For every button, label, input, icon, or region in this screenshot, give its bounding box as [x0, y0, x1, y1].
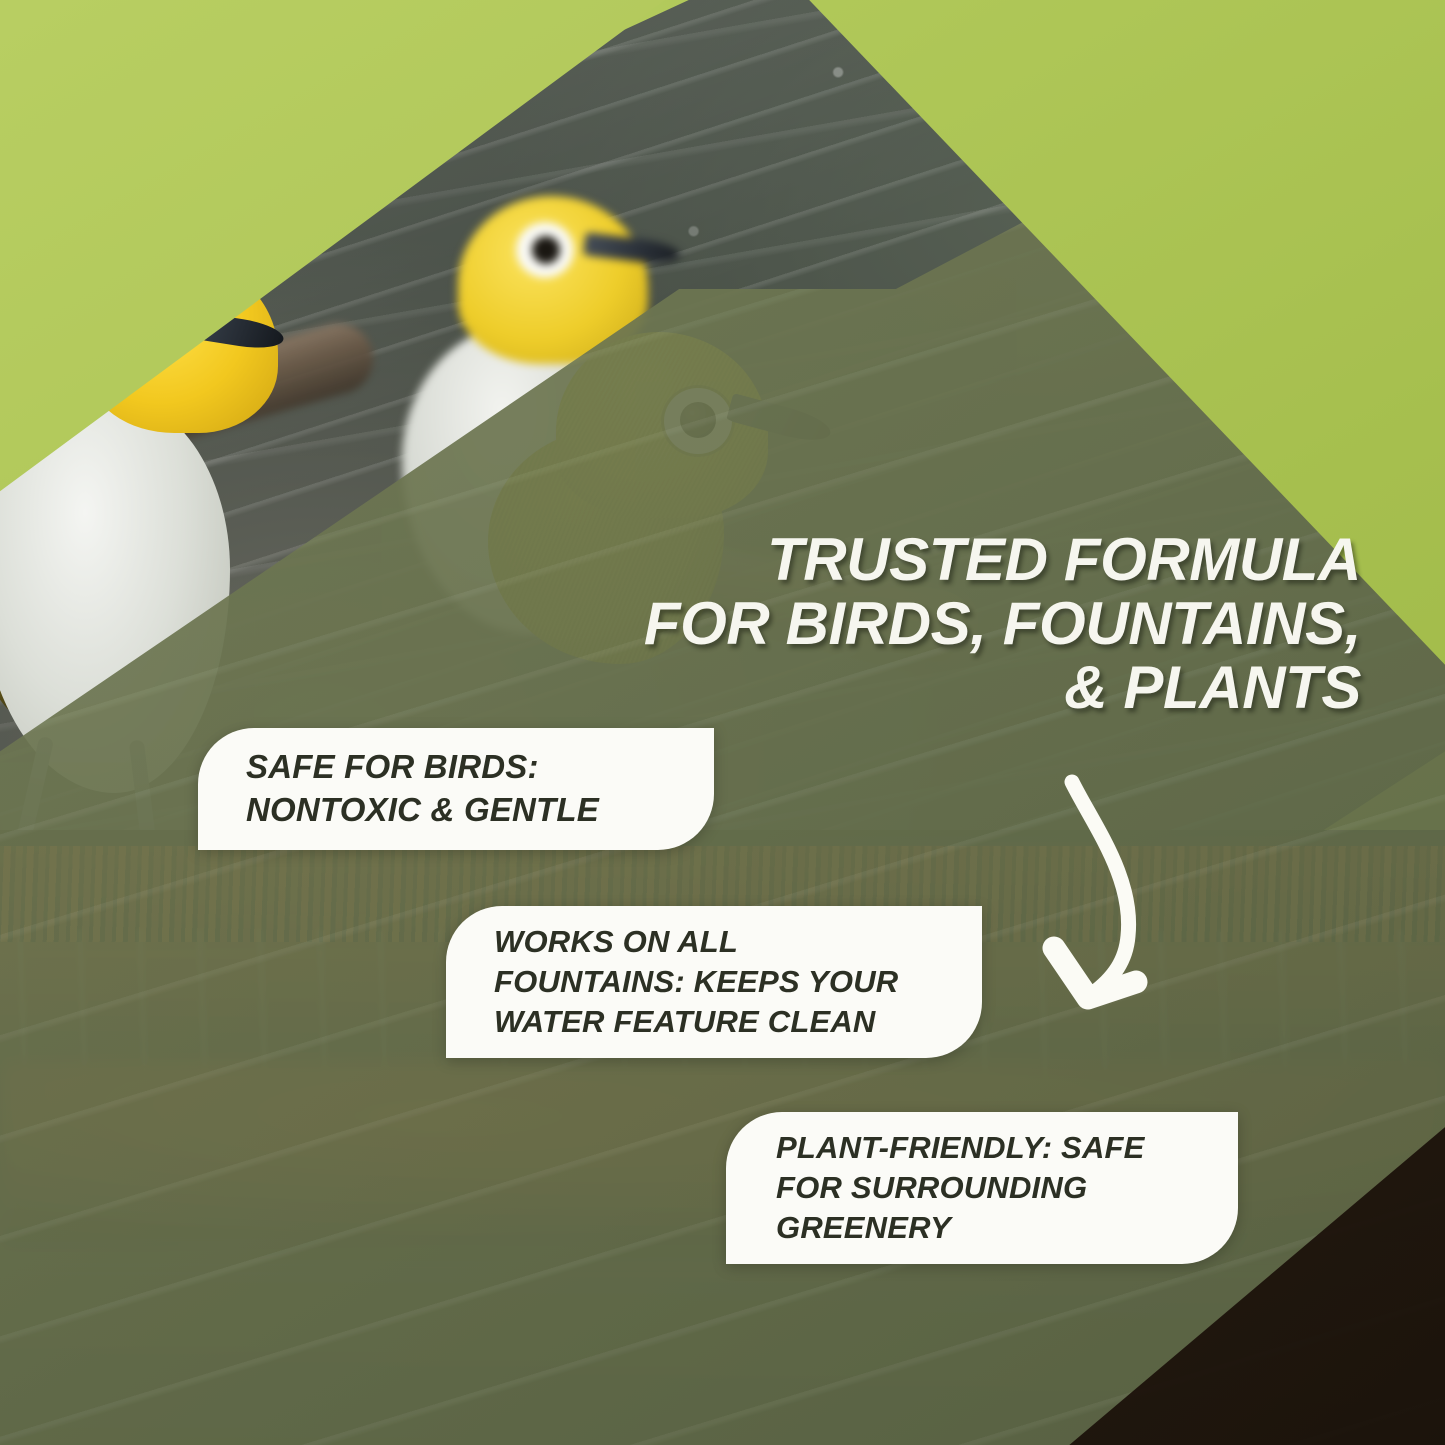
- callout-line: FOR SURROUNDING: [776, 1168, 1238, 1208]
- callout-safe-for-birds: SAFE FOR BIRDS: NONTOXIC & GENTLE: [198, 728, 714, 850]
- bird-pupil: [532, 236, 560, 264]
- headline-line-3: & PLANTS: [641, 656, 1361, 720]
- headline-line-1: TRUSTED FORMULA: [641, 528, 1361, 592]
- callout-line: WORKS ON ALL: [494, 922, 982, 962]
- headline: TRUSTED FORMULA FOR BIRDS, FOUNTAINS, & …: [641, 528, 1361, 721]
- callout-works-on-all-fountains: WORKS ON ALL FOUNTAINS: KEEPS YOUR WATER…: [446, 906, 982, 1058]
- infographic-poster: TRUSTED FORMULA FOR BIRDS, FOUNTAINS, & …: [0, 0, 1445, 1445]
- headline-line-2: FOR BIRDS, FOUNTAINS,: [641, 592, 1361, 656]
- callout-line: SAFE FOR BIRDS:: [246, 746, 714, 789]
- callout-line: FOUNTAINS: KEEPS YOUR: [494, 962, 982, 1002]
- callout-line: NONTOXIC & GENTLE: [246, 789, 714, 832]
- callout-plant-friendly: PLANT-FRIENDLY: SAFE FOR SURROUNDING GRE…: [726, 1112, 1238, 1264]
- curved-down-arrow-icon: [1030, 770, 1230, 1030]
- callout-line: PLANT-FRIENDLY: SAFE: [776, 1128, 1238, 1168]
- callout-line: WATER FEATURE CLEAN: [494, 1002, 982, 1042]
- callout-line: GREENERY: [776, 1208, 1238, 1248]
